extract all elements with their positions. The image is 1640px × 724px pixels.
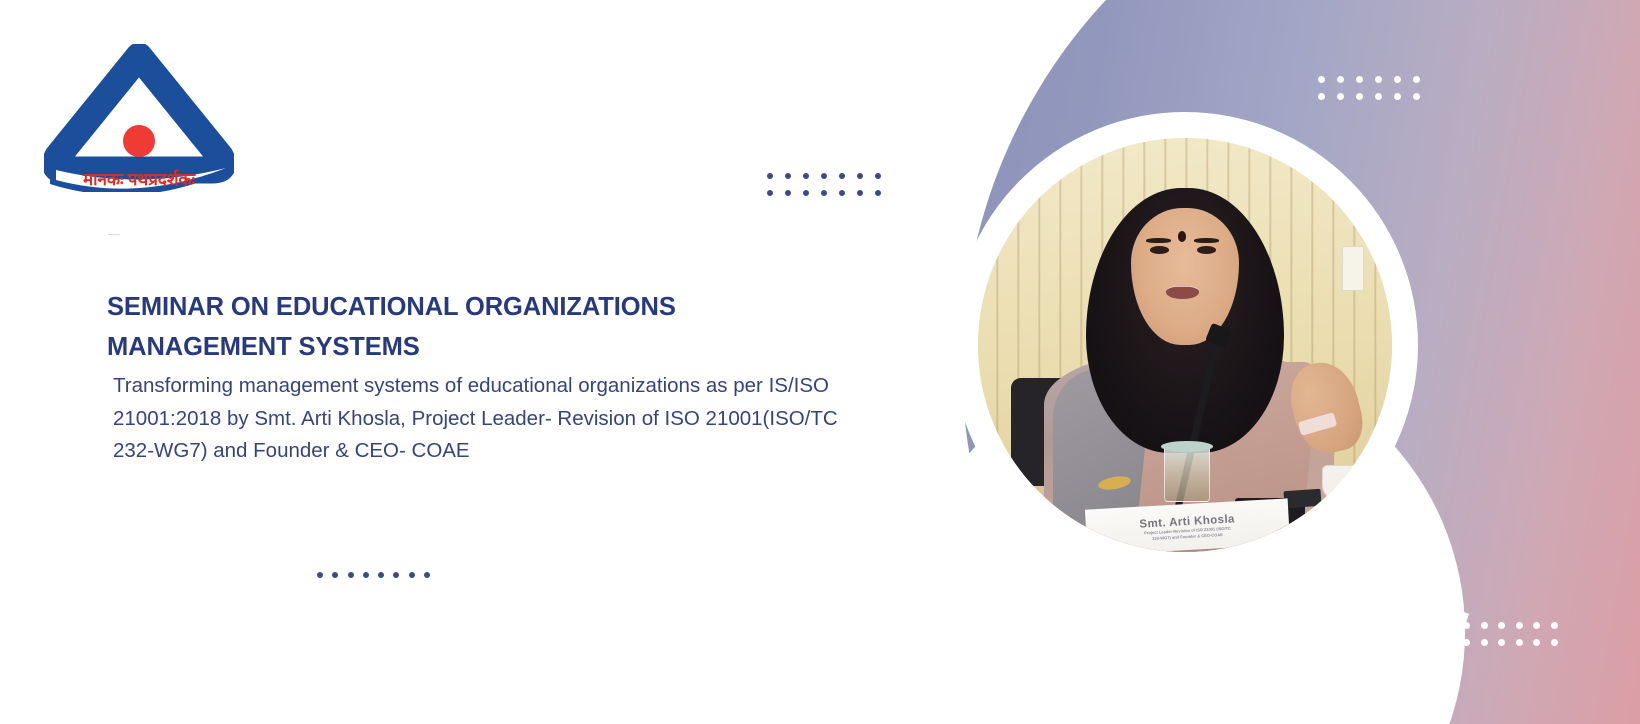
dot-grid-lower-left [317, 572, 439, 587]
decor-dot [1394, 76, 1401, 83]
decor-dot [803, 173, 809, 179]
photo-bindi [1178, 231, 1187, 242]
photo-mobile-phone [1284, 489, 1322, 508]
dot-grid-top-right [1318, 76, 1432, 110]
speaker-photo: Smt. Arti Khosla Project Leader-Revision… [978, 138, 1392, 552]
decor-dot [1394, 93, 1401, 100]
decor-dot [317, 572, 323, 578]
decor-dot [785, 173, 791, 179]
decor-dot [1356, 76, 1363, 83]
photo-water-glass-lid [1161, 441, 1212, 452]
decor-dot [1463, 639, 1470, 646]
decor-dot [1318, 76, 1325, 83]
decor-dot [1516, 639, 1523, 646]
photo-eyebrow-left [1146, 238, 1171, 243]
decor-dot [821, 173, 827, 179]
decor-dot [1551, 639, 1558, 646]
bis-logo: मानकः पथप्रदर्शकः [44, 44, 234, 192]
decor-dot [1533, 639, 1540, 646]
decor-dot [1516, 622, 1523, 629]
decor-dot [1481, 639, 1488, 646]
decor-dot [1318, 93, 1325, 100]
photo-teacup-second [1361, 453, 1392, 486]
decor-dot [839, 173, 845, 179]
decor-dot [821, 190, 827, 196]
decor-dot [1551, 622, 1558, 629]
decor-dot [1428, 639, 1435, 646]
decor-dot [1463, 622, 1470, 629]
decor-dot [1428, 622, 1435, 629]
dot-grid-bottom-right [1428, 622, 1568, 656]
decor-dot [409, 572, 415, 578]
decor-dot [363, 572, 369, 578]
decor-dot [1356, 93, 1363, 100]
decor-dot [378, 572, 384, 578]
dot-grid-mid-left [767, 173, 893, 207]
decor-dot [857, 173, 863, 179]
faint-pencil-mark [108, 234, 120, 235]
photo-water-glass [1164, 444, 1210, 502]
photo-eyebrow-right [1194, 238, 1219, 243]
decor-dot [1533, 622, 1540, 629]
decor-dot [1337, 76, 1344, 83]
page-subtitle: Transforming management systems of educa… [113, 370, 883, 468]
decor-dot [1413, 76, 1420, 83]
seminar-banner: Smt. Arti Khosla Project Leader-Revision… [0, 0, 1640, 724]
decor-dot [1413, 93, 1420, 100]
decor-dot [393, 572, 399, 578]
decor-dot [1498, 639, 1505, 646]
decor-dot [348, 572, 354, 578]
photo-wall-switch [1342, 246, 1364, 292]
decor-dot [332, 572, 338, 578]
decor-dot [1337, 93, 1344, 100]
decor-dot [1375, 76, 1382, 83]
decor-dot [1446, 622, 1453, 629]
decor-dot [875, 173, 881, 179]
page-title: SEMINAR ON EDUCATIONAL ORGANIZATIONS MAN… [107, 287, 807, 367]
decor-dot [1446, 639, 1453, 646]
decor-dot [1498, 622, 1505, 629]
decor-dot [767, 190, 773, 196]
decor-dot [839, 190, 845, 196]
decor-dot [767, 173, 773, 179]
decor-dot [424, 572, 430, 578]
logo-red-dot [123, 125, 155, 157]
photo-teacup [1322, 465, 1363, 502]
decor-dot [1375, 93, 1382, 100]
decor-dot [785, 190, 791, 196]
decor-dot [875, 190, 881, 196]
decor-dot [1481, 622, 1488, 629]
decor-dot [857, 190, 863, 196]
decor-dot [803, 190, 809, 196]
